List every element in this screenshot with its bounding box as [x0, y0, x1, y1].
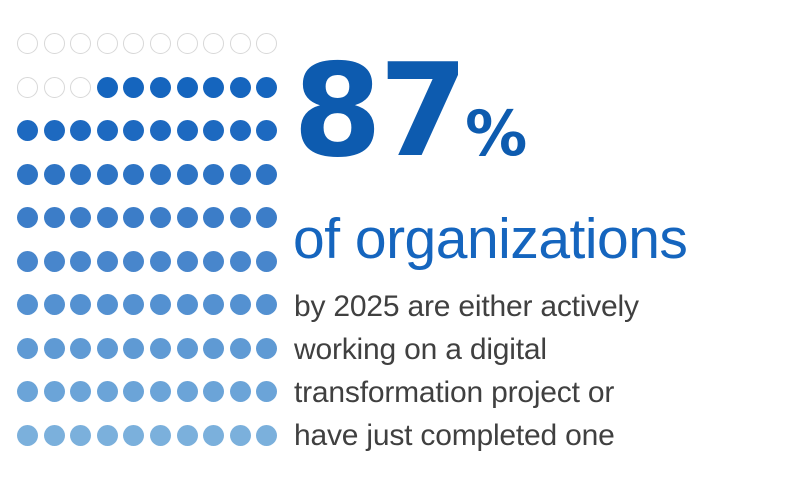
body-copy-line: transformation project or [294, 371, 639, 414]
dot-filled [44, 251, 65, 272]
dot-filled [123, 251, 144, 272]
statistic-subhead: of organizations [293, 207, 687, 273]
dot-filled [97, 425, 118, 446]
dot-row [17, 294, 267, 338]
dot-empty [150, 33, 171, 54]
dot-filled [123, 77, 144, 98]
content-panel: 87% of organizations by 2025 are either … [293, 0, 801, 500]
dot-filled [177, 294, 198, 315]
dot-filled [256, 251, 277, 272]
dot-filled [123, 338, 144, 359]
dot-empty [177, 33, 198, 54]
dot-row [17, 251, 267, 295]
body-copy-line: working on a digital [294, 328, 639, 371]
dot-filled [256, 164, 277, 185]
dot-filled [97, 294, 118, 315]
dot-filled [123, 164, 144, 185]
dot-empty [203, 33, 224, 54]
dot-row [17, 207, 267, 251]
dot-filled [230, 77, 251, 98]
dot-filled [17, 294, 38, 315]
dot-filled [70, 164, 91, 185]
dot-filled [150, 120, 171, 141]
dot-empty [70, 77, 91, 98]
dot-row [17, 381, 267, 425]
dot-filled [256, 425, 277, 446]
dot-filled [97, 251, 118, 272]
dot-filled [97, 77, 118, 98]
dot-filled [44, 425, 65, 446]
dot-row [17, 33, 267, 77]
dot-filled [230, 120, 251, 141]
dot-matrix-chart [17, 33, 267, 463]
dot-filled [44, 381, 65, 402]
statistic-unit: % [465, 97, 526, 170]
dot-filled [97, 207, 118, 228]
dot-filled [123, 294, 144, 315]
dot-filled [123, 425, 144, 446]
dot-filled [230, 425, 251, 446]
dot-filled [256, 207, 277, 228]
dot-row [17, 164, 267, 208]
dot-empty [230, 33, 251, 54]
dot-empty [44, 33, 65, 54]
dot-filled [150, 338, 171, 359]
dot-filled [230, 251, 251, 272]
dot-filled [230, 164, 251, 185]
dot-filled [44, 294, 65, 315]
dot-filled [70, 381, 91, 402]
dot-filled [70, 425, 91, 446]
dot-row [17, 425, 267, 469]
dot-filled [203, 251, 224, 272]
dot-filled [123, 381, 144, 402]
dot-filled [70, 120, 91, 141]
dot-row [17, 77, 267, 121]
dot-filled [203, 338, 224, 359]
dot-filled [17, 207, 38, 228]
dot-filled [150, 381, 171, 402]
dot-filled [177, 77, 198, 98]
dot-filled [256, 77, 277, 98]
dot-filled [150, 251, 171, 272]
dot-filled [97, 381, 118, 402]
dot-filled [230, 381, 251, 402]
dot-filled [256, 338, 277, 359]
dot-filled [70, 338, 91, 359]
dot-filled [97, 164, 118, 185]
dot-filled [177, 381, 198, 402]
dot-filled [256, 120, 277, 141]
dot-empty [70, 33, 91, 54]
dot-filled [203, 77, 224, 98]
dot-filled [97, 338, 118, 359]
dot-filled [97, 120, 118, 141]
dot-filled [17, 338, 38, 359]
dot-filled [203, 120, 224, 141]
dot-filled [150, 425, 171, 446]
dot-empty [44, 77, 65, 98]
dot-filled [17, 251, 38, 272]
dot-filled [203, 381, 224, 402]
dot-filled [44, 120, 65, 141]
body-copy-line: by 2025 are either actively [294, 285, 639, 328]
dot-filled [177, 251, 198, 272]
dot-filled [150, 294, 171, 315]
dot-filled [123, 207, 144, 228]
dot-filled [256, 381, 277, 402]
dot-empty [256, 33, 277, 54]
dot-filled [44, 164, 65, 185]
dot-filled [203, 425, 224, 446]
body-copy-line: have just completed one [294, 414, 639, 457]
dot-filled [177, 164, 198, 185]
dot-filled [70, 251, 91, 272]
dot-filled [150, 77, 171, 98]
dot-filled [203, 207, 224, 228]
dot-filled [230, 294, 251, 315]
dot-filled [230, 338, 251, 359]
dot-filled [17, 164, 38, 185]
dot-row [17, 338, 267, 382]
dot-filled [17, 120, 38, 141]
dot-filled [177, 425, 198, 446]
statistic-value: 87 [293, 37, 465, 186]
dot-empty [17, 77, 38, 98]
dot-filled [17, 381, 38, 402]
dot-filled [44, 338, 65, 359]
dot-empty [123, 33, 144, 54]
dot-filled [256, 294, 277, 315]
infographic-root: 87% of organizations by 2025 are either … [0, 0, 801, 500]
dot-filled [70, 294, 91, 315]
dot-filled [70, 207, 91, 228]
dot-filled [17, 425, 38, 446]
dot-empty [97, 33, 118, 54]
dot-filled [177, 338, 198, 359]
dot-filled [177, 120, 198, 141]
dot-empty [17, 33, 38, 54]
dot-filled [203, 294, 224, 315]
dot-filled [230, 207, 251, 228]
dot-filled [150, 207, 171, 228]
statistic-headline: 87% [293, 48, 526, 176]
dot-filled [44, 207, 65, 228]
dot-filled [150, 164, 171, 185]
body-copy: by 2025 are either activelyworking on a … [294, 285, 639, 457]
dot-filled [203, 164, 224, 185]
dot-filled [123, 120, 144, 141]
dot-row [17, 120, 267, 164]
dot-filled [177, 207, 198, 228]
